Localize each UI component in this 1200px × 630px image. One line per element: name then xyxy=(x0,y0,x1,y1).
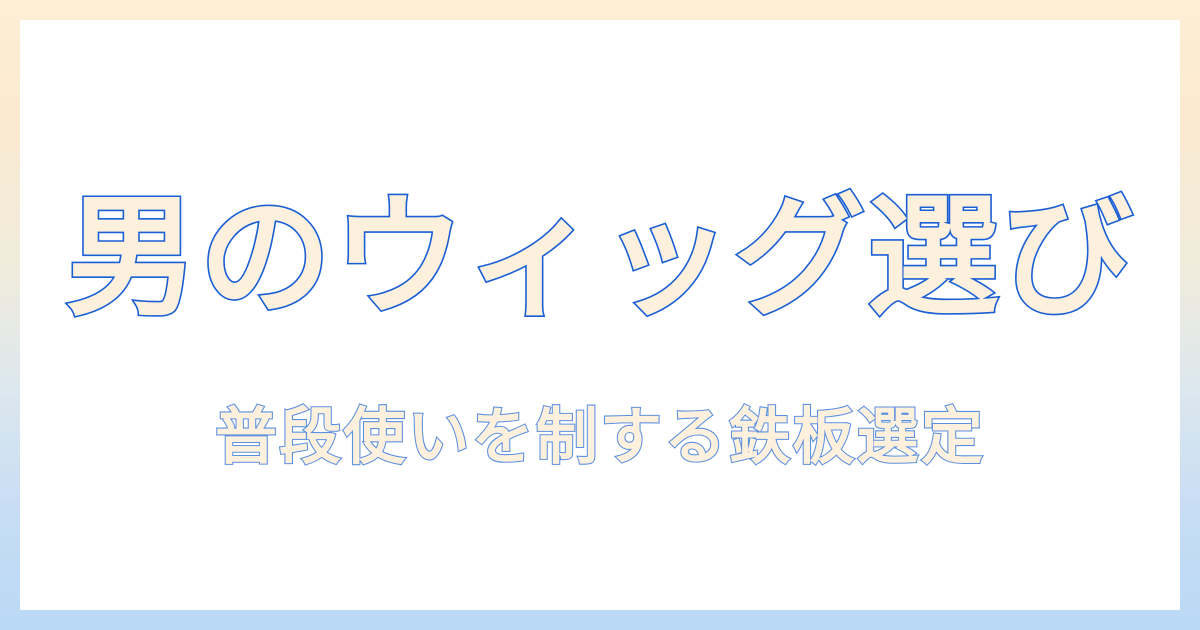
page-subtitle: 普段使いを制する鉄板選定 xyxy=(20,403,1180,471)
page-title: 男のウィッグ選び xyxy=(20,187,1180,330)
content-card: 男のウィッグ選び 普段使いを制する鉄板選定 xyxy=(20,20,1180,610)
poster-canvas: 男のウィッグ選び 普段使いを制する鉄板選定 xyxy=(0,0,1200,630)
title-block: 男のウィッグ選び 普段使いを制する鉄板選定 xyxy=(20,187,1180,472)
